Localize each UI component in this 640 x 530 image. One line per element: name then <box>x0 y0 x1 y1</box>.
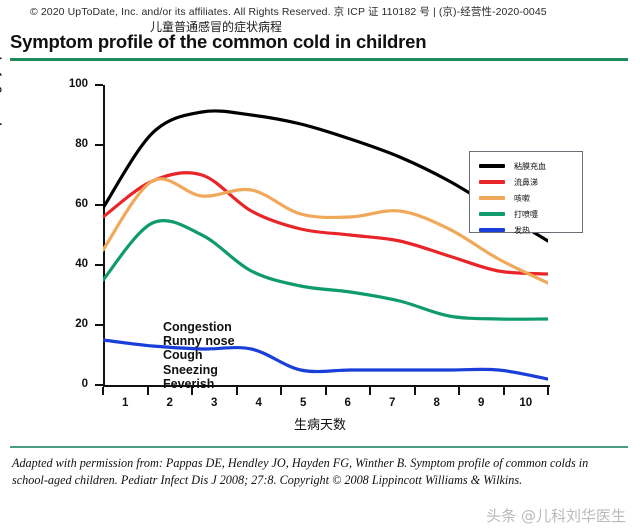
x-tick-label: 4 <box>247 397 271 409</box>
y-tick-label: 60 <box>58 198 88 210</box>
x-tick <box>280 387 282 395</box>
y-tick <box>95 324 103 326</box>
legend-label: 发热 <box>514 225 530 236</box>
x-tick-label: 5 <box>291 397 315 409</box>
x-tick-label: 9 <box>469 397 493 409</box>
chart-legend: 粘膜充血流鼻涕咳嗽打喷嚏发热 <box>469 151 583 233</box>
legend-color-swatch <box>479 180 505 184</box>
y-tick <box>95 204 103 206</box>
symptom-annotation: Sneezing <box>163 363 235 377</box>
copyright-notice: © 2020 UpToDate, Inc. and/or its affilia… <box>30 4 547 19</box>
x-tick <box>325 387 327 395</box>
x-tick <box>102 387 104 395</box>
x-tick-label: 2 <box>158 397 182 409</box>
figure-page: © 2020 UpToDate, Inc. and/or its affilia… <box>0 0 640 530</box>
legend-label: 咳嗽 <box>514 193 530 204</box>
x-axis-label: 生病天数 <box>0 414 640 433</box>
legend-item[interactable]: 发热 <box>479 223 582 237</box>
x-tick <box>547 387 549 395</box>
legend-item[interactable]: 打喷嚏 <box>479 207 582 221</box>
x-tick-label: 10 <box>514 397 538 409</box>
x-tick <box>503 387 505 395</box>
legend-color-swatch <box>479 196 505 200</box>
legend-label: 打喷嚏 <box>514 209 538 220</box>
legend-label: 流鼻涕 <box>514 177 538 188</box>
x-tick-label: 6 <box>336 397 360 409</box>
y-tick <box>95 264 103 266</box>
legend-item[interactable]: 流鼻涕 <box>479 175 582 189</box>
y-tick-label: 40 <box>58 258 88 270</box>
y-tick-label: 20 <box>58 318 88 330</box>
symptom-annotation: Cough <box>163 348 235 362</box>
page-title: Symptom profile of the common cold in ch… <box>10 31 426 53</box>
x-tick <box>414 387 416 395</box>
y-tick <box>95 384 103 386</box>
y-tick <box>95 84 103 86</box>
y-tick <box>95 144 103 146</box>
legend-item[interactable]: 粘膜充血 <box>479 159 582 173</box>
legend-color-swatch <box>479 228 505 232</box>
symptom-annotation: Runny nose <box>163 334 235 348</box>
x-tick-label: 3 <box>202 397 226 409</box>
x-tick-label: 7 <box>380 397 404 409</box>
legend-label: 粘膜充血 <box>514 161 546 172</box>
legend-color-swatch <box>479 212 505 216</box>
divider-top <box>10 58 628 61</box>
figure-caption: Adapted with permission from: Pappas DE,… <box>12 455 622 489</box>
divider-bottom <box>10 446 628 448</box>
x-tick <box>236 387 238 395</box>
symptom-annotation: Feverish <box>163 377 235 391</box>
x-tick <box>458 387 460 395</box>
chart-container: Percent reporting symptom 020406080100 1… <box>0 62 640 442</box>
y-tick-label: 80 <box>58 138 88 150</box>
y-tick-label: 100 <box>58 78 88 90</box>
symptom-annotation: Congestion <box>163 320 235 334</box>
legend-color-swatch <box>479 164 505 168</box>
y-axis-label: Percent reporting symptom <box>0 32 2 182</box>
x-tick <box>147 387 149 395</box>
symptom-annotation-list: CongestionRunny noseCoughSneezingFeveris… <box>163 320 235 391</box>
x-tick <box>369 387 371 395</box>
y-tick-label: 0 <box>58 378 88 390</box>
x-tick-label: 1 <box>113 397 137 409</box>
legend-item[interactable]: 咳嗽 <box>479 191 582 205</box>
x-tick-label: 8 <box>425 397 449 409</box>
watermark: 头条 @儿科刘华医生 <box>486 505 626 526</box>
